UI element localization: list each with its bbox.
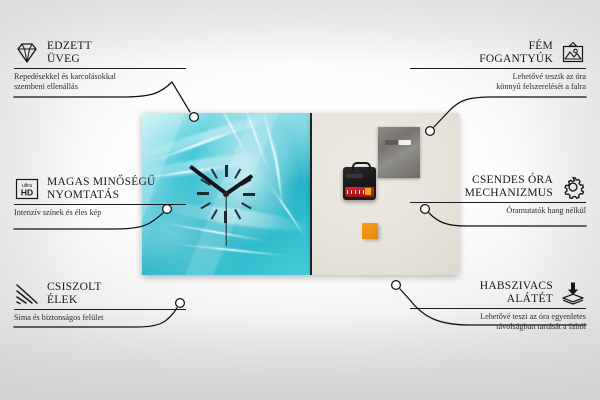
infographic-canvas: EDZETT ÜVEG Repedésekkel és karcolásokka… (0, 0, 600, 400)
battery-text (347, 190, 364, 194)
leader-dot-foam (392, 281, 401, 290)
battery-label (345, 187, 374, 197)
callout-title: FÉM FOGANTYÚK (479, 40, 553, 65)
divider (410, 308, 586, 309)
callout-title: MAGAS MINŐSÉGŰ NYOMTATÁS (47, 176, 156, 201)
callout-polished-edges: CSISZOLT ÉLEK Sima és biztonságos felüle… (14, 281, 186, 323)
callout-title: EDZETT ÜVEG (47, 40, 92, 65)
hanger-slot (385, 140, 411, 145)
svg-text:HD: HD (21, 187, 33, 197)
foam-pad (362, 223, 378, 239)
callout-title: CSENDES ÓRA MECHANIZMUS (465, 174, 553, 199)
callout-desc: Repedésekkel és karcolásokkal szembeni e… (14, 72, 186, 92)
clock-hand-second (225, 194, 226, 246)
callout-desc: Intenzív színek és éles kép (14, 208, 186, 218)
callout-silent-mechanism: CSENDES ÓRA MECHANIZMUS Óramutatók hang … (410, 174, 586, 216)
ultra-hd-icon: ultra HD (14, 177, 40, 201)
divider (14, 68, 186, 69)
diamond-icon (14, 41, 40, 65)
callout-title: CSISZOLT ÉLEK (47, 281, 102, 306)
callout-desc: Lehetővé teszik az óra könnyű felszerelé… (410, 72, 586, 92)
movement-bail (352, 162, 371, 171)
callout-tempered-glass: EDZETT ÜVEG Repedésekkel és karcolásokka… (14, 40, 186, 92)
callout-title: HABSZIVACS ALÁTÉT (480, 280, 553, 305)
movement-slot (346, 174, 363, 178)
divider (410, 202, 586, 203)
divider (410, 68, 586, 69)
callout-desc: Sima és biztonságos felület (14, 313, 186, 323)
clock-movement (343, 167, 376, 200)
battery-plus-mark (365, 188, 371, 195)
callout-high-quality-print: ultra HD MAGAS MINŐSÉGŰ NYOMTATÁS Intenz… (14, 176, 186, 218)
callout-desc: Lehetővé teszi az óra egyenletes távolsá… (410, 312, 586, 332)
callout-desc: Óramutatók hang nélkül (410, 206, 586, 216)
divider (14, 204, 186, 205)
polished-edges-icon (14, 282, 40, 306)
divider (14, 309, 186, 310)
hanging-frame-icon (560, 41, 586, 65)
callout-metal-hooks: FÉM FOGANTYÚK Lehetővé teszik az óra kön… (410, 40, 586, 92)
foam-pad-icon (560, 281, 586, 305)
metal-hanger-plate (378, 127, 420, 178)
callout-foam-pad: HABSZIVACS ALÁTÉT Lehetővé teszi az óra … (410, 280, 586, 332)
gear-icon (560, 175, 586, 199)
clock-hand-cap (223, 191, 229, 197)
